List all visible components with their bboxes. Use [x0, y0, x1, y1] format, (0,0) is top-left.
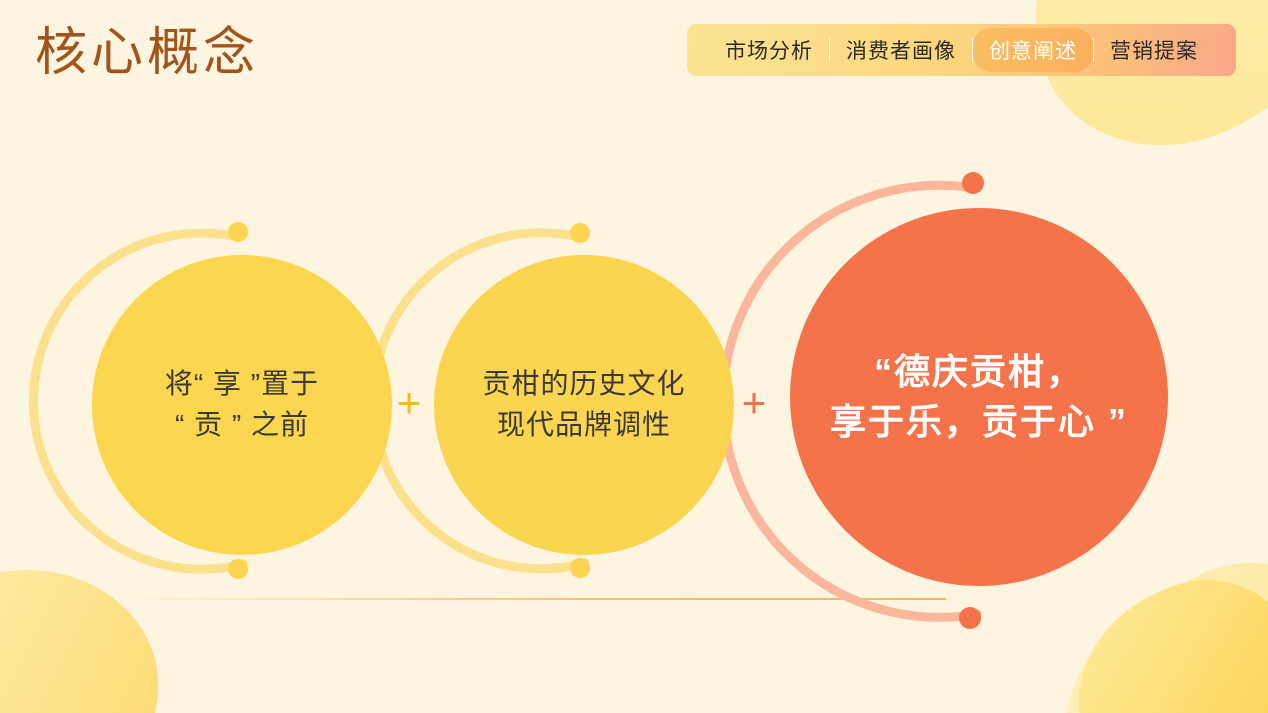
orbit-dot-1-bottom-icon [228, 559, 248, 579]
concept-node-3-line-2: 享于乐，贡于心 ” [830, 397, 1128, 447]
orbit-dot-2-bottom-icon [570, 558, 590, 578]
concept-node-2-text: 贡柑的历史文化 现代品牌调性 [468, 364, 699, 445]
concept-node-3-text: “德庆贡柑， 享于乐，贡于心 ” [816, 347, 1142, 446]
concept-node-1-text: 将“ 享 ”置于 “ 贡 ” 之前 [151, 364, 333, 445]
concept-node-3-line-1: “德庆贡柑， [830, 347, 1128, 397]
plus-operator-1-icon: + [397, 382, 422, 424]
concept-node-1[interactable]: 将“ 享 ”置于 “ 贡 ” 之前 [92, 255, 392, 555]
orbit-dot-3-top-icon [962, 172, 984, 194]
orbit-dot-3-bottom-icon [959, 607, 981, 629]
concept-diagram: 将“ 享 ”置于 “ 贡 ” 之前 + 贡柑的历史文化 现代品牌调性 + “德庆… [0, 0, 1268, 713]
plus-operator-2-icon: + [742, 382, 767, 424]
slide-canvas: 核心概念 市场分析 消费者画像 创意阐述 营销提案 [0, 0, 1268, 713]
orbit-dot-1-top-icon [228, 222, 248, 242]
concept-node-1-line-2: “ 贡 ” 之前 [165, 405, 319, 446]
concept-node-1-line-1: 将“ 享 ”置于 [165, 364, 319, 405]
concept-node-2-line-1: 贡柑的历史文化 [482, 364, 685, 405]
orbit-dot-2-top-icon [570, 223, 590, 243]
concept-node-2[interactable]: 贡柑的历史文化 现代品牌调性 [434, 255, 734, 555]
concept-node-2-line-2: 现代品牌调性 [482, 405, 685, 446]
concept-node-3-result[interactable]: “德庆贡柑， 享于乐，贡于心 ” [790, 208, 1168, 586]
